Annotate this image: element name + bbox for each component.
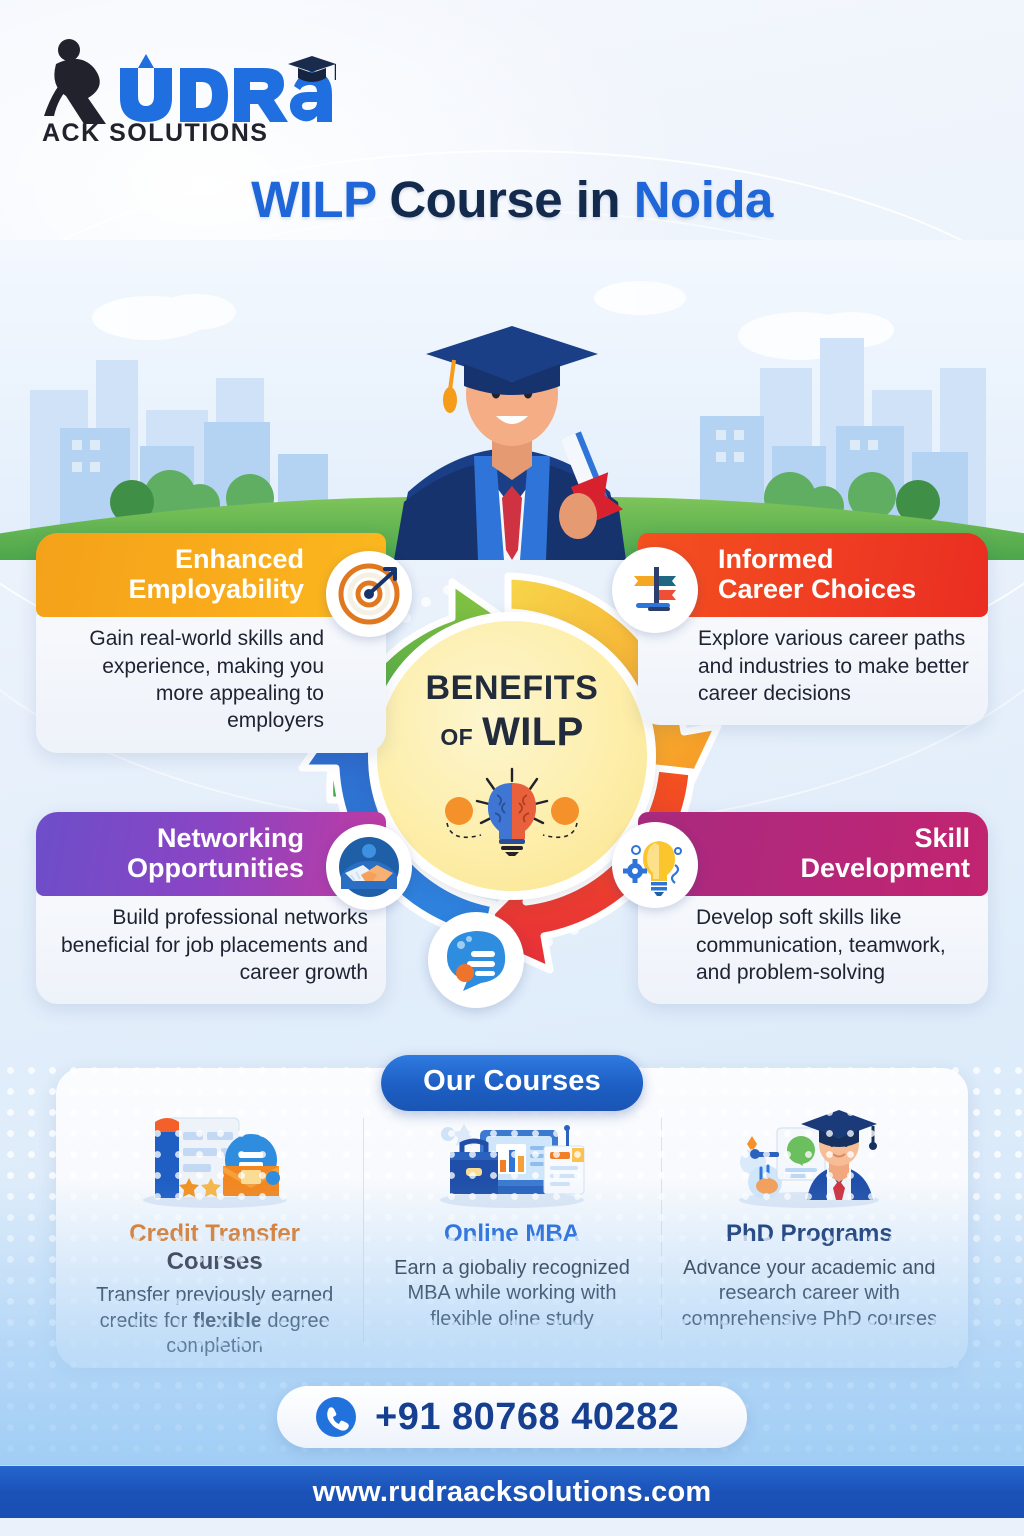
chat-bubble-icon	[428, 912, 524, 1008]
hub-title-line2: OF WILP	[440, 710, 583, 755]
benefit-title-line2: Opportunities	[52, 853, 304, 883]
benefit-card-skill-development[interactable]: Skill Development Develop soft skills li…	[638, 812, 988, 1004]
graduation-cap-icon	[288, 56, 336, 72]
benefit-description: Explore various career paths and industr…	[638, 611, 988, 725]
course-title: Credit Transfer Courses	[82, 1220, 347, 1275]
brand-logo[interactable]: ACK SOLUTIONS	[36, 24, 336, 144]
course-description: Transfer previously earned credits for f…	[82, 1283, 347, 1360]
course-item-online-mba[interactable]: Online MBA Earn a globally recognized MB…	[363, 1104, 660, 1356]
hub-wilp-label: WILP	[482, 710, 584, 755]
benefit-description: Gain real-world skills and experience, m…	[36, 611, 386, 752]
benefit-title-line2: Employability	[52, 574, 304, 604]
laptop-chart-briefcase-icon	[379, 1104, 644, 1208]
title-part-wilp: WILP	[251, 171, 376, 228]
course-desc-highlight: flexible	[193, 1310, 262, 1332]
phone-number: +91 80768 40282	[375, 1396, 679, 1439]
benefit-title-line1: Skill	[718, 823, 970, 853]
title-part-course-in: Course in	[389, 171, 620, 228]
benefit-title-line2: Development	[718, 853, 970, 883]
target-dartboard-icon	[326, 551, 412, 637]
graduate-presentation-icon	[677, 1104, 942, 1208]
course-title-part-a: Online MBA	[444, 1220, 580, 1247]
course-title-part-b: Courses	[167, 1248, 263, 1275]
benefit-description: Build professional networks beneficial f…	[36, 890, 386, 1004]
title-part-noida: Noida	[634, 171, 773, 228]
course-item-phd-programs[interactable]: PhD Programs Advance your academic and r…	[661, 1104, 958, 1356]
benefit-card-informed-career-choices[interactable]: Informed Career Choices Explore various …	[638, 533, 988, 725]
brain-lightbulb-icon	[437, 765, 587, 862]
courses-panel: Credit Transfer Courses Transfer previou…	[56, 1068, 968, 1368]
course-description: Earn a globally recognized MBA while wor…	[379, 1256, 644, 1333]
benefit-card-enhanced-employability[interactable]: Enhanced Employability Gain real-world s…	[36, 533, 386, 753]
signpost-direction-icon	[612, 547, 698, 633]
website-url[interactable]: www.rudraacksolutions.com	[313, 1476, 712, 1509]
hub-of-label: OF	[440, 724, 473, 751]
benefit-description: Develop soft skills like communication, …	[638, 890, 988, 1004]
phone-icon	[315, 1396, 357, 1438]
benefit-title-line1: Networking	[52, 823, 304, 853]
certificate-briefcase-icon	[82, 1104, 347, 1208]
course-title-part-a: Credit Transfer	[129, 1220, 300, 1247]
hub-title-line1: BENEFITS	[426, 669, 599, 708]
course-title-part-a: PhD Programs	[726, 1220, 893, 1247]
infographic-page: ACK SOLUTIONS WILP Course in Noida	[0, 0, 1024, 1536]
handshake-icon	[326, 824, 412, 910]
benefit-card-networking-opportunities[interactable]: Networking Opportunities Build professio…	[36, 812, 386, 1004]
contact-phone-bar[interactable]: +91 80768 40282	[277, 1386, 747, 1448]
course-title: Online MBA	[379, 1220, 644, 1248]
page-title: WILP Course in Noida	[0, 172, 1024, 228]
footer-bar: www.rudraacksolutions.com	[0, 1466, 1024, 1518]
lightbulb-gear-icon	[612, 822, 698, 908]
our-courses-pill: Our Courses	[381, 1055, 643, 1111]
benefit-title-line1: Informed	[718, 544, 972, 574]
course-title: PhD Programs	[677, 1220, 942, 1248]
logo-graphic: ACK SOLUTIONS	[36, 24, 336, 144]
footer-bottom-strip	[0, 1518, 1024, 1536]
logo-person-head-icon	[58, 39, 80, 61]
benefit-title-line1: Enhanced	[52, 544, 304, 574]
svg-text:ACK SOLUTIONS: ACK SOLUTIONS	[42, 119, 268, 144]
course-item-credit-transfer[interactable]: Credit Transfer Courses Transfer previou…	[66, 1104, 363, 1356]
benefit-title-line2: Career Choices	[718, 574, 972, 604]
course-description: Advance your academic and research caree…	[677, 1256, 942, 1333]
